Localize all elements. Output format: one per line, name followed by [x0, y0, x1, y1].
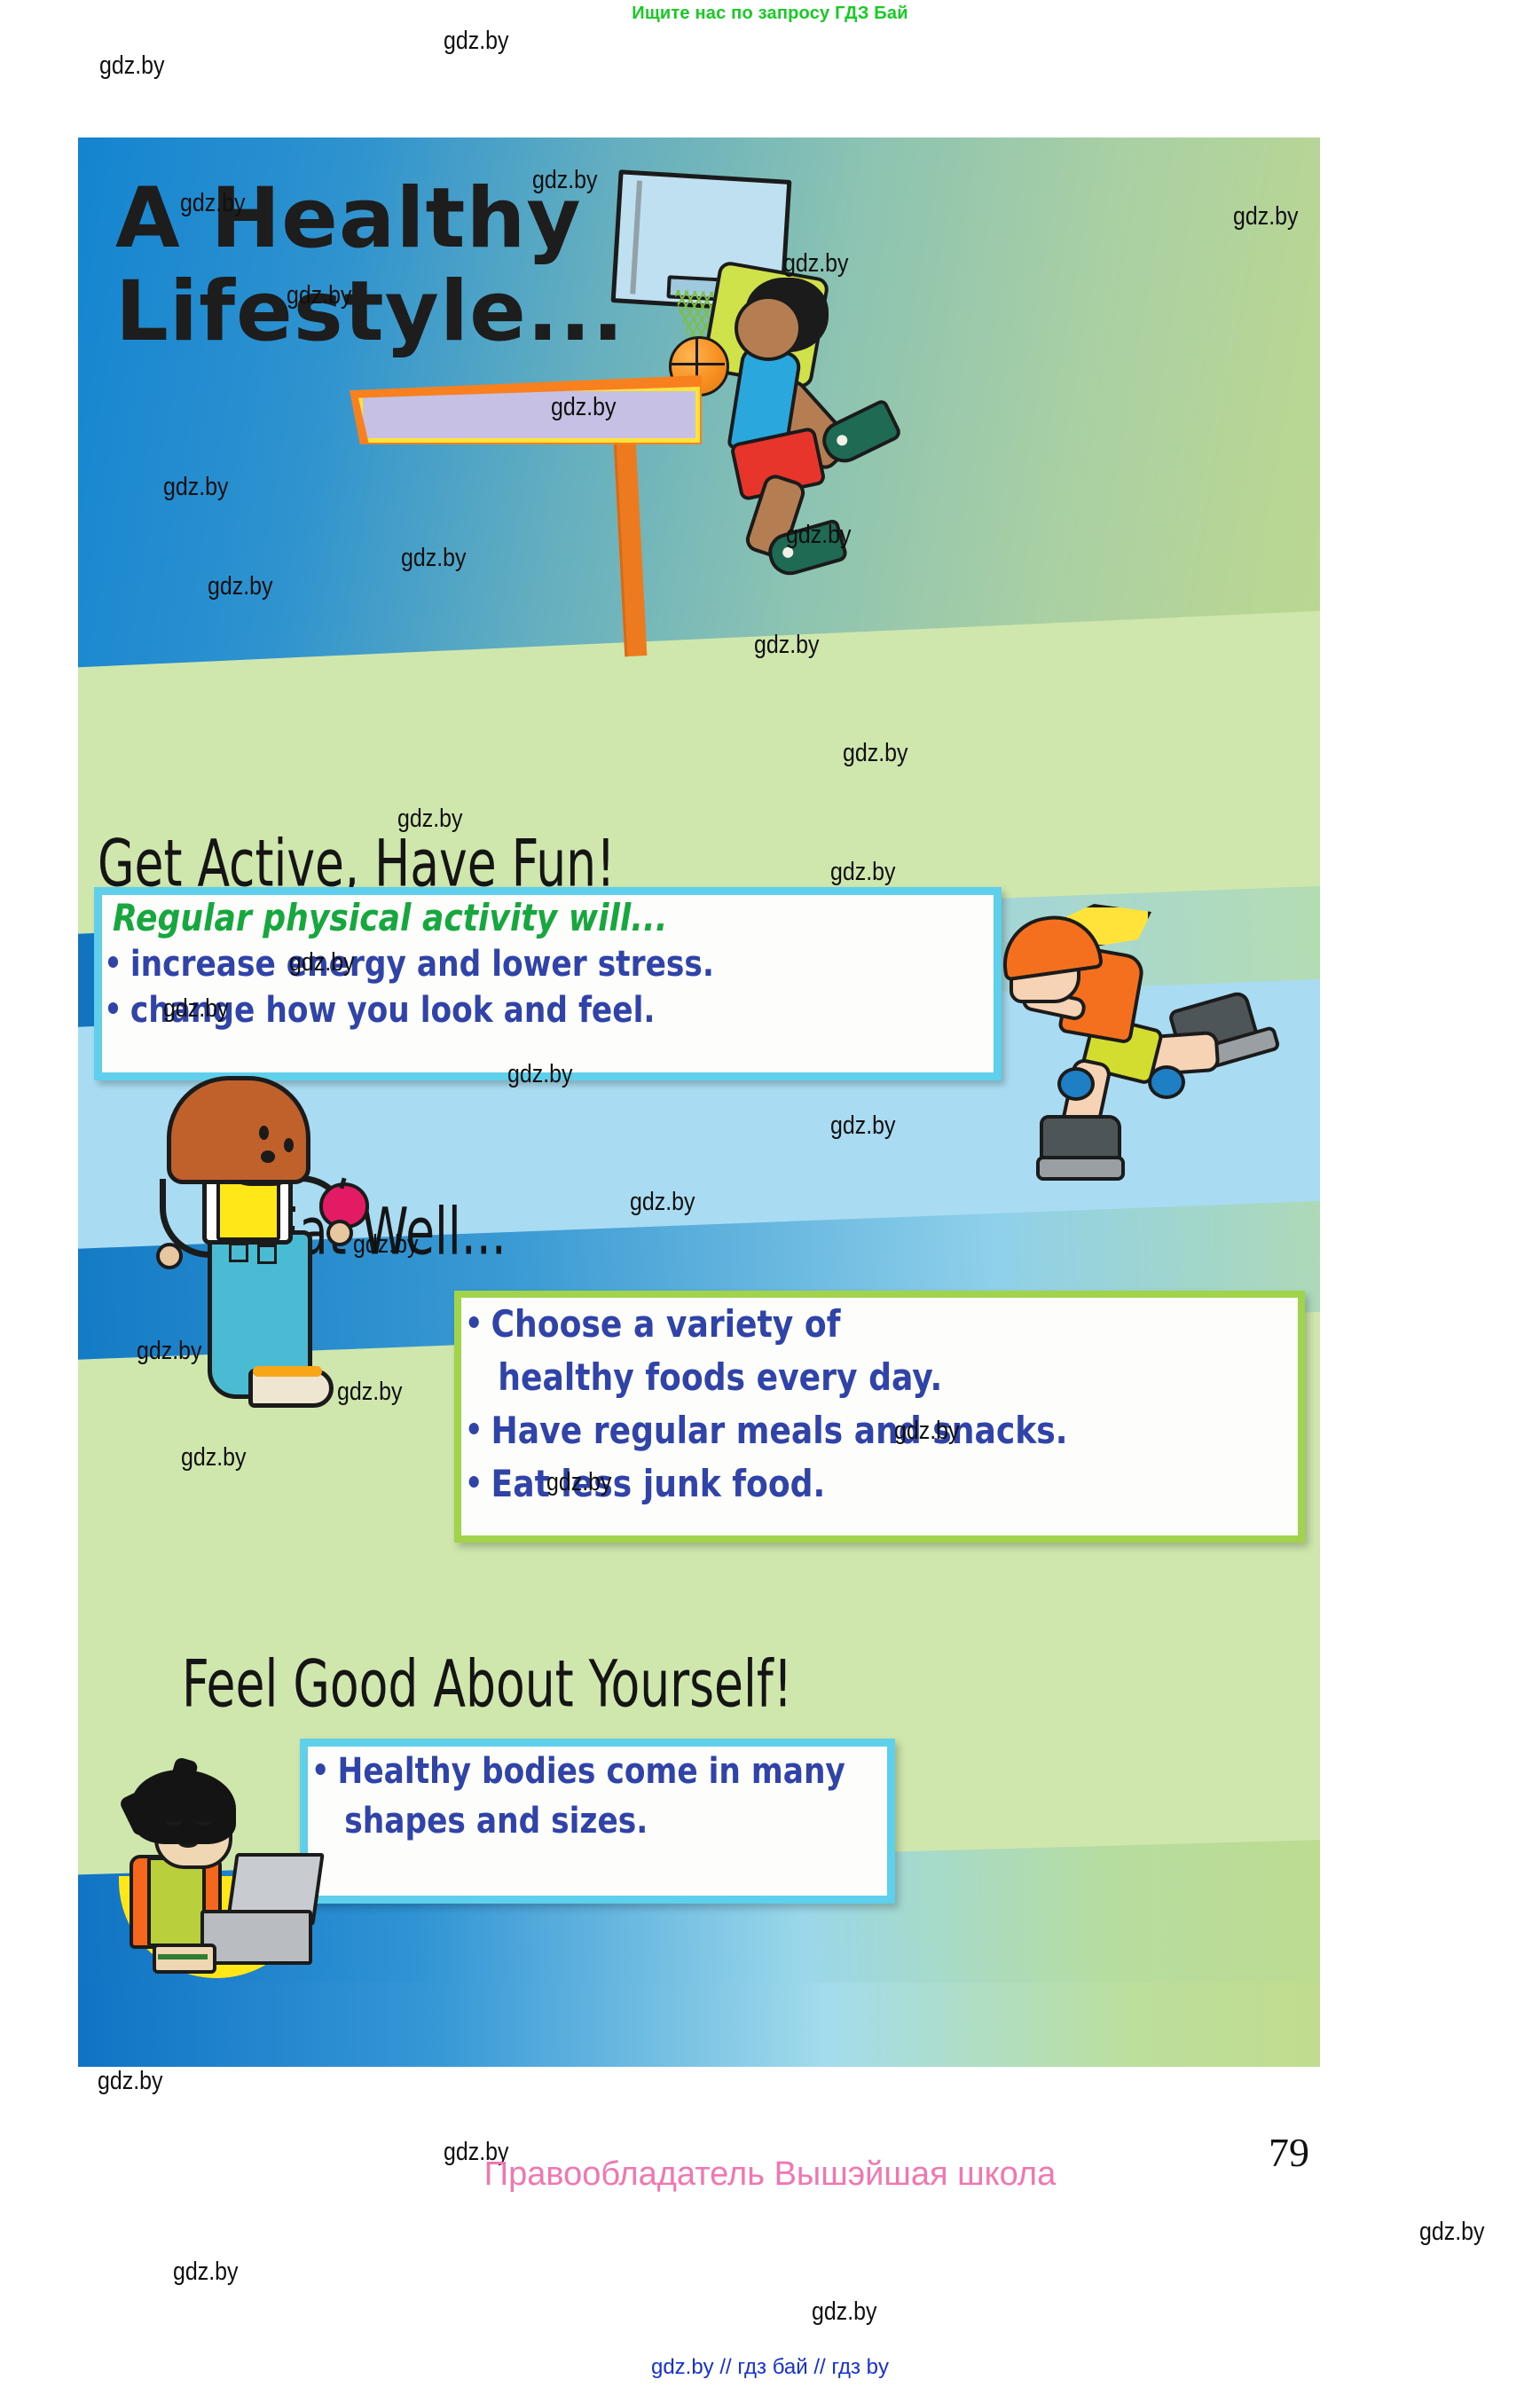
watermark: gdz.by [812, 2297, 876, 2327]
apple-girl-hand-left [156, 1243, 183, 1269]
feel-good-info-box: Healthy bodies come in many shapes and s… [300, 1739, 895, 1904]
watermark: gdz.by [843, 739, 907, 768]
apple-girl-pocket-left [229, 1243, 248, 1262]
skater-kneepad-right [1148, 1065, 1185, 1099]
laptop-kid-eye-right [195, 1814, 213, 1826]
laptop-kid-hair [131, 1770, 236, 1844]
watermark: gdz.by [208, 572, 272, 601]
promo-banner: Ищите нас по запросу ГДЗ Бай [0, 4, 1540, 24]
apple-girl-pocket-right [257, 1245, 277, 1264]
get-active-bullet-1: increase energy and lower stress. [102, 941, 868, 987]
eat-well-bullet-1: Choose a variety of [461, 1298, 1181, 1351]
eat-well-bullet-1-cont: healthy foods every day. [461, 1351, 1181, 1404]
eat-well-bullet-2: Have regular meals and snacks. [461, 1404, 1181, 1457]
apple-girl-eye-right [284, 1138, 294, 1152]
watermark: gdz.by [163, 994, 228, 1024]
skater-wheels-lower [1036, 1156, 1125, 1181]
watermark: gdz.by [444, 27, 508, 56]
basketball-pole-icon [612, 412, 647, 656]
watermark: gdz.by [754, 631, 819, 660]
apple-girl-eye-left [259, 1126, 269, 1140]
copyright-line: Правообладатель Вышэйшая школа [0, 2156, 1540, 2194]
poster-title-line1: A Healthy [115, 170, 582, 267]
laptop-kid-eye-left [165, 1814, 183, 1826]
watermark: gdz.by [1419, 2218, 1484, 2247]
watermark: gdz.by [401, 544, 466, 573]
watermark: gdz.by [337, 1378, 402, 1407]
watermark: gdz.by [99, 51, 164, 81]
bullet-dot-icon [469, 1316, 479, 1328]
feel-good-bullet-1-cont: shapes and sizes. [308, 1796, 806, 1846]
get-active-info-box: Regular physical activity will... increa… [94, 887, 1002, 1080]
watermark: gdz.by [353, 1230, 418, 1260]
eat-well-info-box: Choose a variety of healthy foods every … [454, 1291, 1305, 1543]
apple-girl-shoe [248, 1369, 334, 1408]
skater-kneepad-left [1057, 1067, 1095, 1101]
bullet-dot-icon [108, 1002, 118, 1014]
watermark: gdz.by [786, 521, 851, 550]
apple-girl-mouth [261, 1150, 275, 1163]
laptop-kid-smile [177, 1835, 199, 1848]
healthy-lifestyle-poster: A Healthy Lifestyle... Get Active, Have … [78, 137, 1320, 2067]
laptop-keyboard-icon [200, 1910, 312, 1965]
get-active-lead-text: Regular physical activity will... [102, 895, 868, 941]
laptop-kid-vest [147, 1857, 206, 1947]
watermark: gdz.by [630, 1188, 695, 1217]
sandwich-icon [153, 1944, 216, 1974]
watermark: gdz.by [163, 473, 228, 502]
rollerblading-girl-illustration [1001, 900, 1267, 1202]
watermark: gdz.by [830, 858, 895, 887]
watermark: gdz.by [507, 1060, 572, 1089]
watermark: gdz.by [551, 393, 616, 422]
apple-girl-hand-right [326, 1220, 353, 1246]
background-band-blue-footer [78, 1983, 1320, 2067]
watermark: gdz.by [1233, 202, 1298, 232]
watermark: gdz.by [532, 166, 597, 195]
apple-girl-hair [167, 1076, 310, 1184]
boy-with-laptop-illustration [110, 1761, 376, 1991]
watermark: gdz.by [137, 1337, 201, 1366]
watermark: gdz.by [546, 1468, 611, 1497]
watermark: gdz.by [289, 948, 354, 978]
watermark: gdz.by [397, 805, 462, 834]
watermark: gdz.by [830, 1111, 895, 1141]
watermark: gdz.by [180, 189, 245, 218]
watermark: gdz.by [894, 1417, 959, 1446]
feel-good-bullet-1: Healthy bodies come in many [308, 1747, 806, 1796]
watermark: gdz.by [181, 1443, 246, 1472]
watermark: gdz.by [98, 2067, 162, 2096]
footer-links: gdz.by // гдз бай // гдз by [0, 2355, 1540, 2380]
bullet-dot-icon [469, 1476, 479, 1488]
watermark: gdz.by [287, 281, 351, 310]
player-head [735, 295, 802, 361]
section-heading-feel-good: Feel Good About Yourself! [182, 1645, 792, 1722]
bullet-dot-icon [108, 956, 118, 968]
bullet-dot-icon [469, 1423, 479, 1434]
watermark: gdz.by [173, 2258, 238, 2287]
watermark: gdz.by [783, 249, 848, 279]
